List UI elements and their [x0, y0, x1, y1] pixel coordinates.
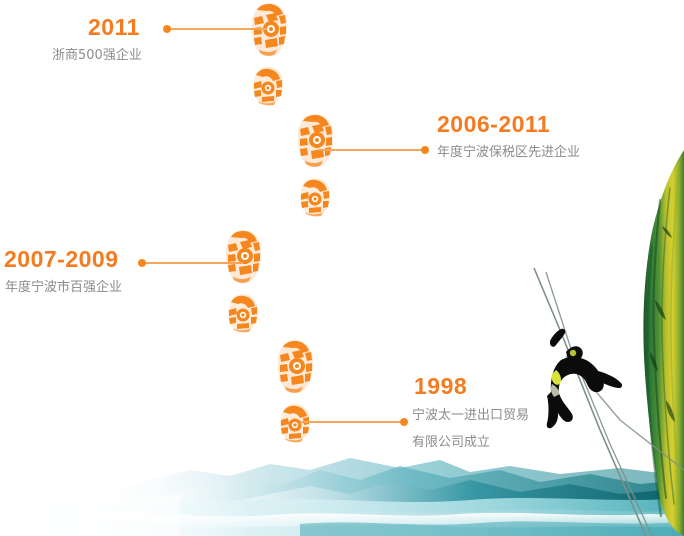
- timeline-entry-2011[interactable]: 2011 浙商500强企业: [88, 16, 142, 65]
- timeline-year: 2011: [88, 16, 142, 39]
- connector-line-2006: [318, 149, 426, 151]
- boot-print-icon: [296, 177, 334, 217]
- timeline-year: 1998: [414, 375, 529, 398]
- rock-climber-silhouette: [547, 329, 622, 429]
- timeline-caption: 年度宁波市百强企业: [5, 278, 122, 297]
- boot-print-icon: [245, 2, 293, 58]
- boot-print-icon: [276, 403, 314, 443]
- timeline-caption-line2: 有限公司成立: [412, 433, 529, 452]
- connector-dot-2011: [163, 25, 171, 33]
- connector-dot-1998: [400, 418, 408, 426]
- timeline-entry-2006-2011[interactable]: 2006-2011 年度宁波保税区先进企业: [437, 113, 580, 162]
- misty-sea: [0, 495, 684, 536]
- timeline-year: 2006-2011: [437, 113, 580, 136]
- boot-print-icon: [271, 339, 319, 395]
- connector-dot-2007: [138, 259, 146, 267]
- timeline-entry-2007-2009[interactable]: 2007-2009 年度宁波市百强企业: [4, 248, 122, 297]
- connector-line-1998: [300, 421, 404, 423]
- mountain-range: [100, 458, 684, 536]
- timeline-caption: 年度宁波保税区先进企业: [437, 143, 580, 162]
- boot-print-icon: [224, 293, 262, 333]
- timeline-entry-1998[interactable]: 1998 宁波太一进出口贸易 有限公司成立: [414, 375, 529, 452]
- timeline-caption-line1: 宁波太一进出口贸易: [412, 406, 529, 425]
- boot-print-icon: [219, 229, 267, 285]
- cliff-rock-face: [630, 140, 684, 536]
- timeline-caption: 浙商500强企业: [52, 46, 142, 65]
- connector-line-2007: [143, 262, 243, 264]
- boot-print-icon: [249, 66, 287, 106]
- timeline-infographic: 2011 浙商500强企业 2006-2011 年度宁波保税区先进企业 2007…: [0, 0, 684, 536]
- boot-print-icon: [291, 113, 339, 169]
- timeline-year: 2007-2009: [4, 248, 122, 271]
- connector-dot-2006: [421, 146, 429, 154]
- climbing-ropes: [534, 268, 684, 536]
- connector-line-2011: [167, 28, 267, 30]
